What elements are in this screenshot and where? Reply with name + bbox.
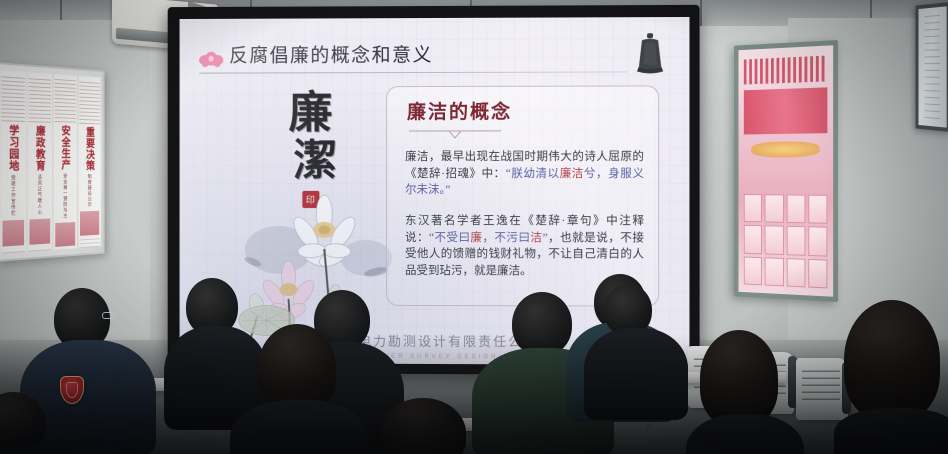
para2-quote-highlight-a: 廉 bbox=[470, 232, 482, 244]
meeting-room-scene: 学习园地 党建工作宣传栏 廉政教育 清风正气暖人心 安全生产 安全第一预防为主 … bbox=[0, 0, 948, 454]
notice-column-sub: 制度建设公示 bbox=[87, 174, 93, 208]
notice-column-title: 安全生产 bbox=[59, 125, 72, 171]
notice-column-sub: 清风正气暖人心 bbox=[37, 175, 43, 216]
notice-column: 安全生产 安全第一预防为主 bbox=[54, 74, 77, 250]
chair[interactable] bbox=[796, 358, 848, 420]
para1-quote-highlight: 廉洁 bbox=[560, 167, 584, 179]
notice-column-sub: 党建工作宣传栏 bbox=[10, 175, 16, 217]
notice-column: 重要决策 制度建设公示 bbox=[78, 76, 100, 248]
torso bbox=[584, 328, 688, 420]
eyeglasses bbox=[102, 312, 115, 319]
slide-header: 反腐倡廉的概念和意义 bbox=[197, 37, 669, 80]
notice-column: 学习园地 党建工作宣传栏 bbox=[1, 70, 26, 253]
notice-column-title: 重要决策 bbox=[83, 127, 96, 172]
far-right-framed-poster bbox=[916, 2, 948, 132]
para1-quote-a: 朕幼清以 bbox=[511, 167, 560, 179]
title-divider bbox=[199, 71, 627, 73]
calligraphy-char-lian: 廉 bbox=[271, 90, 351, 136]
para2-quote-b: ，不污曰 bbox=[482, 232, 530, 244]
card-heading: 廉洁的概念 bbox=[407, 97, 512, 124]
hair bbox=[700, 330, 778, 426]
notice-column-title: 廉政教育 bbox=[33, 125, 47, 172]
left-notice-board: 学习园地 党建工作宣传栏 廉政教育 清风正气暖人心 安全生产 安全第一预防为主 … bbox=[0, 62, 105, 262]
hair bbox=[844, 300, 940, 420]
lotus-flower-icon bbox=[197, 47, 225, 69]
head bbox=[512, 292, 572, 356]
bronze-bell-icon bbox=[633, 31, 667, 77]
notice-column-title: 学习园地 bbox=[6, 124, 20, 172]
slide-title: 反腐倡廉的概念和意义 bbox=[229, 40, 433, 68]
concept-paragraph-1: 廉洁，最早出现在战国时期伟大的诗人屈原的《楚辞·招魂》中：“朕幼清以廉洁兮，身服… bbox=[405, 149, 644, 199]
para2-quote-a: 不受曰 bbox=[434, 232, 470, 244]
heading-underline-decoration bbox=[409, 127, 501, 137]
notice-column-sub: 安全第一预防为主 bbox=[62, 173, 68, 219]
para1-quote-close: ” bbox=[445, 184, 450, 196]
calligraphy-char-jie: 潔 bbox=[281, 138, 351, 184]
right-wall-poster bbox=[734, 40, 838, 302]
para2-quote-highlight-b: 洁 bbox=[530, 232, 542, 244]
hair bbox=[258, 324, 336, 412]
torso bbox=[834, 408, 948, 454]
notice-column: 廉政教育 清风正气暖人心 bbox=[28, 72, 52, 251]
concept-paragraph-2: 东汉著名学者王逸在《楚辞·章句》中注释说：“不受曰廉，不污曰洁”，也就是说，不接… bbox=[405, 213, 644, 279]
